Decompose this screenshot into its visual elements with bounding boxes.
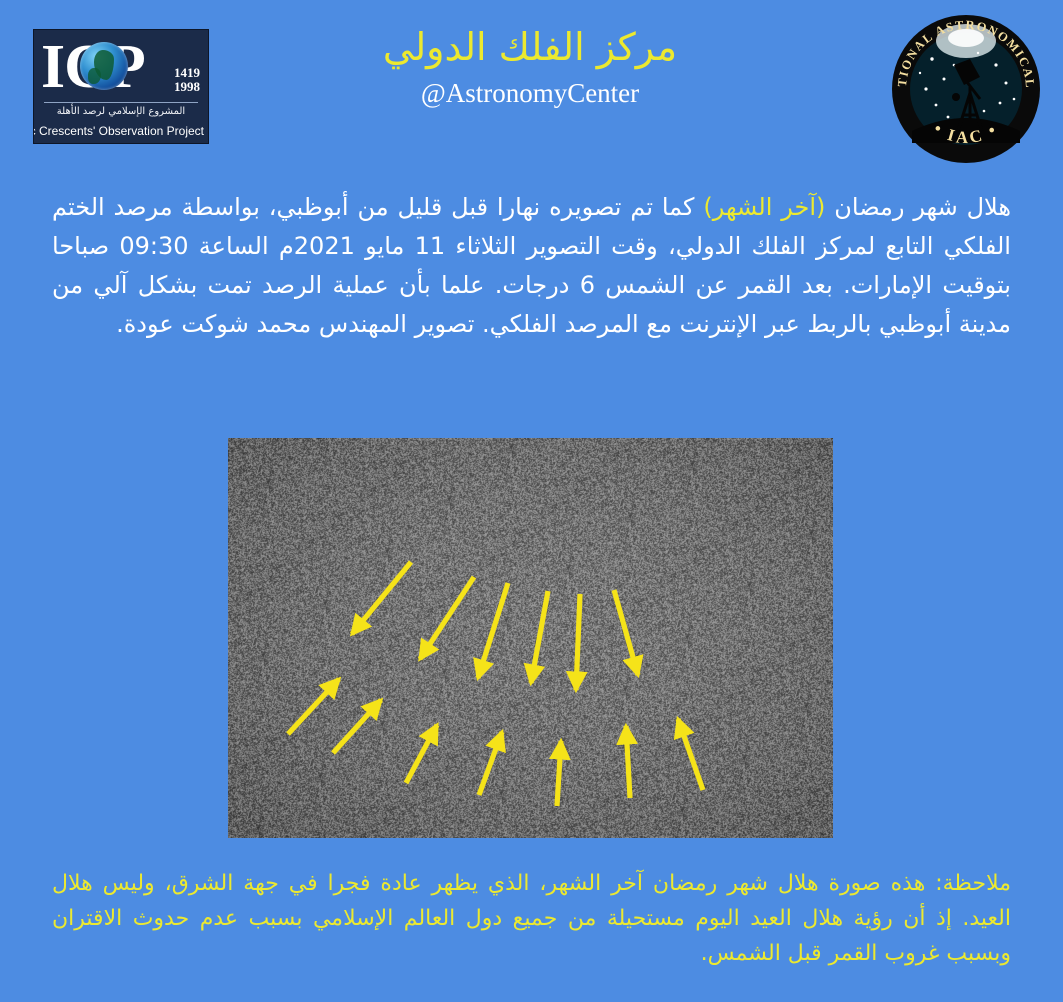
icop-logo: ICP 1419 1998 المشروع الإسلامي لرصد الأه… xyxy=(33,29,209,144)
annotation-arrow xyxy=(576,594,580,690)
header: ICP 1419 1998 المشروع الإسلامي لرصد الأه… xyxy=(0,0,1063,178)
annotation-arrow xyxy=(406,725,437,783)
body-segment-1: هلال شهر رمضان xyxy=(825,193,1011,221)
annotation-arrow xyxy=(478,583,508,678)
iac-seal-icon: 0%" stop-color="#cfe9ee"/> 22%" stop-col… xyxy=(884,7,1048,171)
iac-logo: 0%" stop-color="#cfe9ee"/> 22%" stop-col… xyxy=(884,7,1048,171)
annotation-arrow xyxy=(557,741,561,806)
icop-logo-english-name: Islamic Crescents' Observation Project xyxy=(38,124,204,138)
body-highlight: (آخر الشهر) xyxy=(703,193,825,221)
divider xyxy=(44,102,198,103)
annotation-arrow xyxy=(626,726,630,798)
photo-arrow-overlay xyxy=(228,438,833,838)
social-handle: @AstronomyCenter xyxy=(290,76,770,110)
annotation-arrow xyxy=(420,577,474,659)
icop-year-to: 1998 xyxy=(174,80,200,94)
icop-logo-arabic-name: المشروع الإسلامي لرصد الأهلة xyxy=(40,106,202,117)
annotation-arrow xyxy=(333,700,381,753)
annotation-arrow xyxy=(288,679,339,734)
announcement-page: ICP 1419 1998 المشروع الإسلامي لرصد الأه… xyxy=(0,0,1063,1002)
crescent-photo xyxy=(228,438,833,838)
globe-icon xyxy=(80,42,128,90)
icop-year-from: 1419 xyxy=(174,66,200,80)
title-block: مركز الفلك الدولي @AstronomyCenter xyxy=(290,22,770,110)
icop-logo-years: 1419 1998 xyxy=(174,66,200,94)
annotation-arrow xyxy=(531,591,548,683)
announcement-body: هلال شهر رمضان (آخر الشهر) كما تم تصويره… xyxy=(52,188,1011,344)
annotation-arrow xyxy=(352,562,411,634)
note-text: ملاحظة: هذه صورة هلال شهر رمضان آخر الشه… xyxy=(52,866,1011,971)
annotation-arrow xyxy=(614,590,638,675)
annotation-arrow xyxy=(678,719,703,790)
annotation-arrow xyxy=(479,732,502,795)
page-title: مركز الفلك الدولي xyxy=(290,22,770,72)
